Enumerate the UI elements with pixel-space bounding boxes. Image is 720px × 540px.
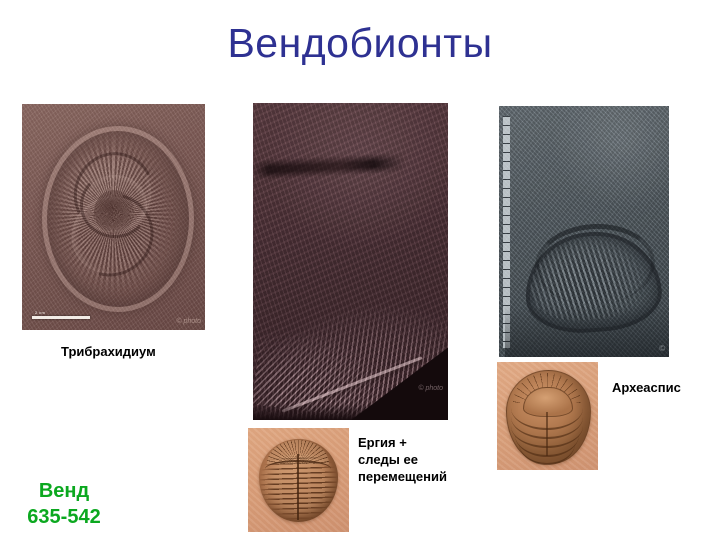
image-archaeaspis-fossil-slab[interactable]: © (499, 106, 669, 357)
image-tribrachidium-fossil[interactable]: 2 cm © photo (22, 104, 205, 330)
photo-watermark: © photo (418, 385, 443, 392)
image-yergia-reconstruction[interactable] (248, 428, 349, 532)
period-name: Венд (39, 480, 89, 502)
image-yergia-fossil-slab[interactable]: © photo (253, 103, 448, 420)
caption-tribrachidium: Трибрахидиум (61, 343, 156, 360)
image-bottom-shadow (505, 305, 669, 357)
period-range: 635-542 (4, 504, 124, 530)
fossil-center (94, 190, 134, 234)
reconstruction-midline (546, 412, 548, 456)
caption-archaeaspis: Археаспис (612, 379, 681, 396)
caption-yergia: Ергия + следы ее перемещений (358, 434, 447, 485)
image-archaeaspis-reconstruction[interactable] (497, 362, 598, 470)
period-label: Венд 635-542 (4, 478, 124, 530)
scale-bar-label: 2 cm (35, 310, 45, 315)
photo-watermark: © photo (176, 318, 201, 325)
reconstruction-midline (297, 454, 299, 520)
photo-watermark: © (659, 344, 665, 353)
scale-bar (32, 316, 90, 319)
page-title: Вендобионты (0, 20, 720, 67)
